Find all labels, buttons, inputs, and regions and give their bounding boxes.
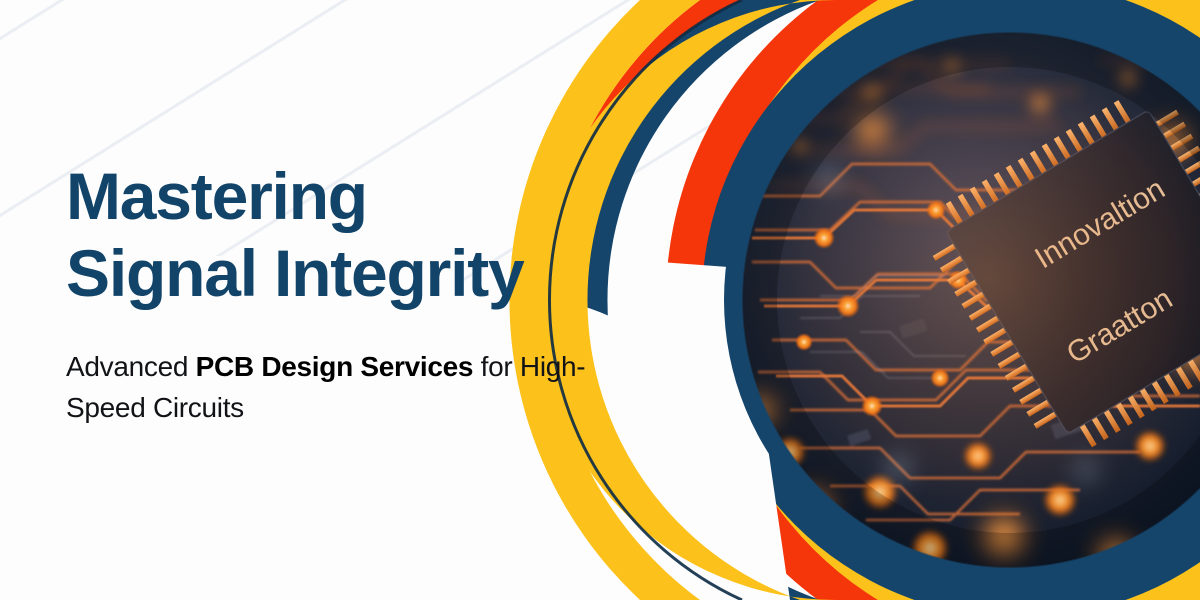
subtitle-prefix: Advanced	[66, 351, 196, 382]
headline-line-1: Mastering	[66, 158, 666, 235]
page-title: Mastering Signal Integrity	[66, 158, 666, 311]
headline-line-2: Signal Integrity	[66, 235, 666, 312]
page-subtitle: Advanced PCB Design Services for High-Sp…	[66, 311, 656, 428]
hero-banner: Innovaltion Graatton Mastering Signal In…	[0, 0, 1200, 600]
hero-text-block: Mastering Signal Integrity Advanced PCB …	[66, 158, 666, 428]
subtitle-emphasis: PCB Design Services	[196, 351, 474, 382]
